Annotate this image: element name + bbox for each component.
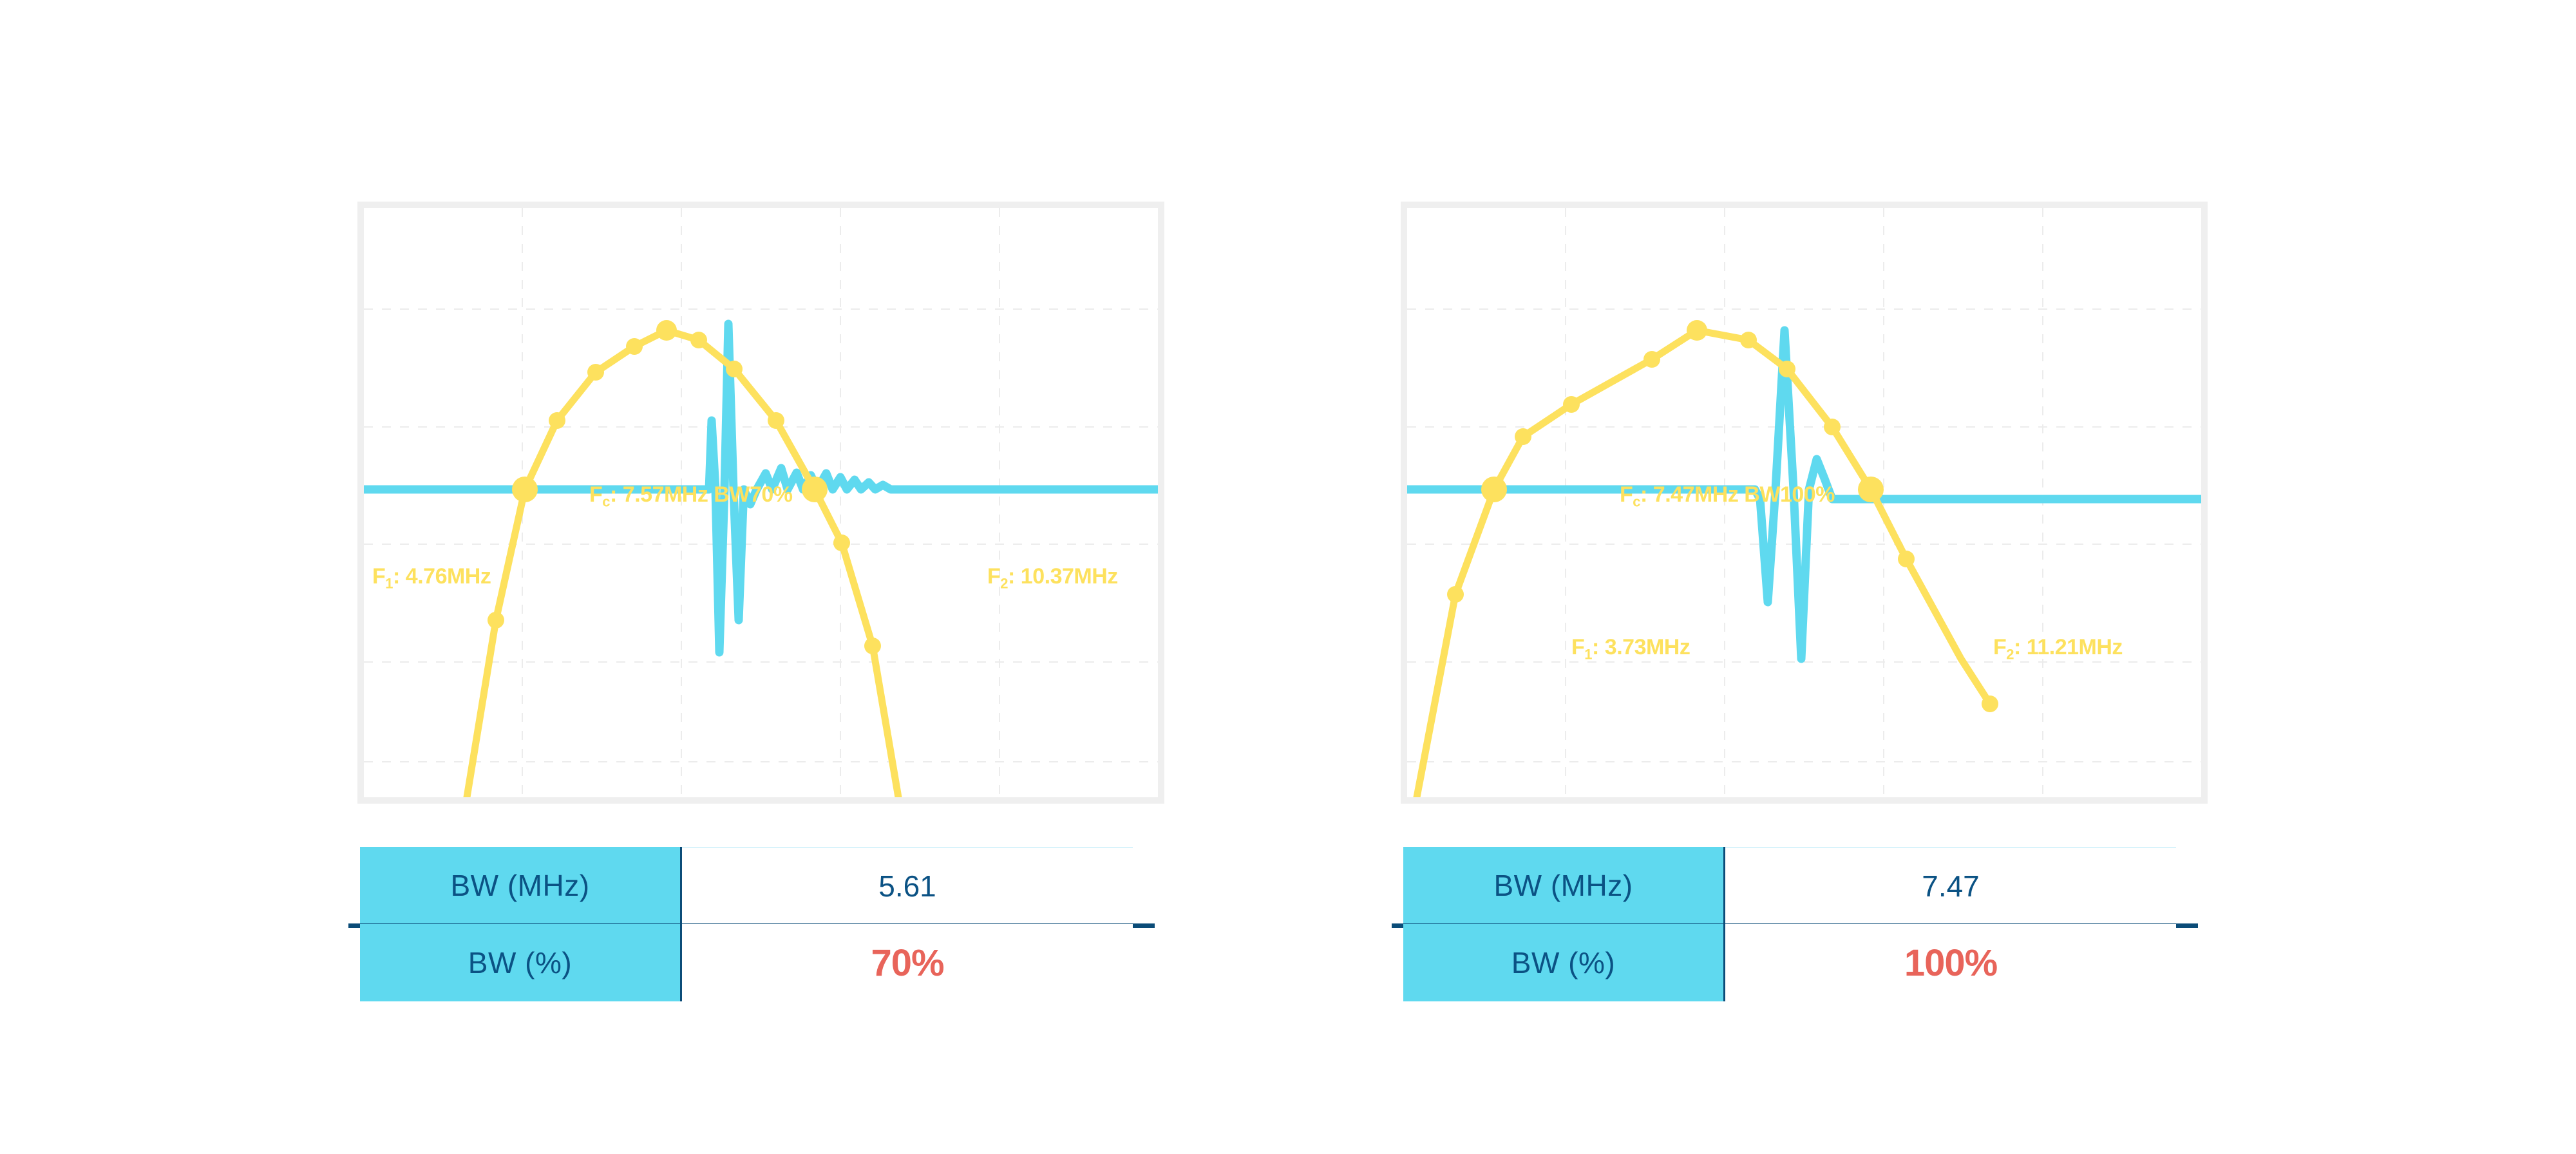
chart-frame-right: Fc: 7.47MHz BW100% F1: 3.73MHz F2: 11.21… [1401, 202, 2208, 804]
panel-bw70: Fc: 7.57MHz BW70% F1: 4.76MHz F2: 10.37M… [348, 0, 1185, 1154]
table-row-value: 70% [871, 941, 943, 985]
table-row-label: BW (%) [360, 924, 682, 1001]
panel-bw100: Fc: 7.47MHz BW100% F1: 3.73MHz F2: 11.21… [1391, 0, 2228, 1154]
table-row-label: BW (MHz) [360, 847, 682, 924]
table-row-label: BW (MHz) [1403, 847, 1725, 924]
annotation-upper-cutoff-right: F2: 11.21MHz [1993, 636, 2123, 662]
table-row-label: BW (%) [1403, 924, 1725, 1001]
spectrum-markers-right [1447, 320, 1998, 712]
table-row: BW (MHz) 5.61 [360, 847, 1133, 924]
table-row: BW (%) 70% [360, 924, 1133, 1001]
annotation-center-frequency-right: Fc: 7.47MHz BW100% [1620, 484, 1835, 509]
annotation-center-frequency-left: Fc: 7.57MHz BW70% [589, 484, 793, 509]
table-row-value-cell: 5.61 [682, 847, 1133, 924]
table-row: BW (%) 100% [1403, 924, 2176, 1001]
table-row-value: 7.47 [1922, 869, 1980, 903]
comparison-figure: Fc: 7.57MHz BW70% F1: 4.76MHz F2: 10.37M… [0, 0, 2576, 1154]
annotation-upper-cutoff-left: F2: 10.37MHz [987, 565, 1118, 591]
bw-table-right: BW (MHz) 7.47 BW (%) 100% [1403, 847, 2176, 1001]
table-row: BW (MHz) 7.47 [1403, 847, 2176, 924]
table-row-value: 5.61 [878, 869, 936, 903]
bw-table-left: BW (MHz) 5.61 BW (%) 70% [360, 847, 1133, 1001]
annotation-lower-cutoff-left: F1: 4.76MHz [372, 565, 491, 591]
table-row-value-cell: 100% [1725, 924, 2176, 1001]
table-row-value-cell: 7.47 [1725, 847, 2176, 924]
chart-frame-left: Fc: 7.57MHz BW70% F1: 4.76MHz F2: 10.37M… [357, 202, 1164, 804]
spectrum-curve-left [467, 330, 898, 797]
annotation-lower-cutoff-right: F1: 3.73MHz [1571, 636, 1690, 662]
table-row-value-cell: 70% [682, 924, 1133, 1001]
table-row-value: 100% [1904, 941, 1997, 985]
